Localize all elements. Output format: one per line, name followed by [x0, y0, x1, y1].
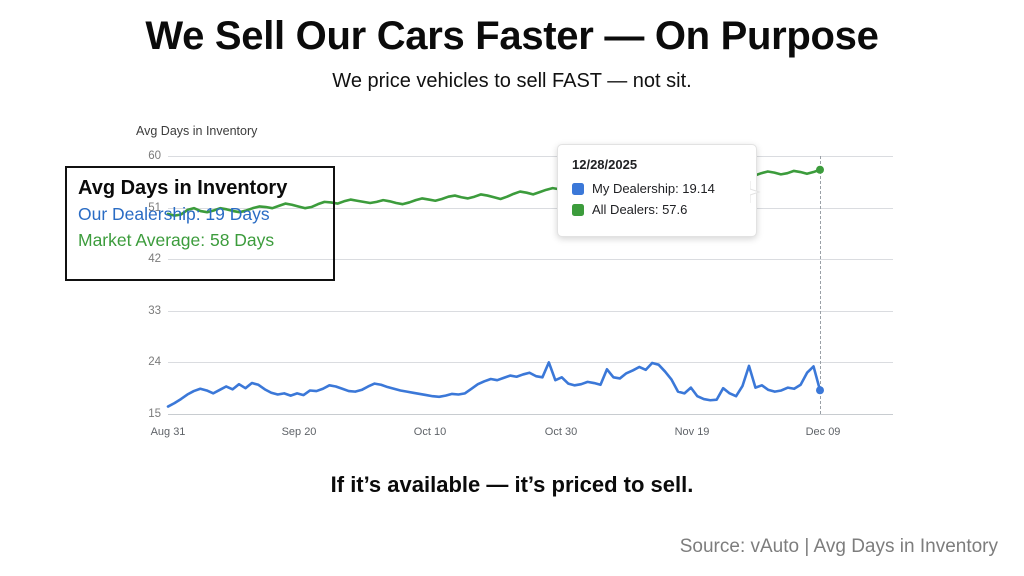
x-axis-tick-label: Oct 10: [414, 426, 446, 438]
tooltip-swatch-icon: [572, 183, 584, 195]
tooltip-swatch-icon: [572, 204, 584, 216]
page-kicker: If it’s available — it’s priced to sell.: [0, 472, 1024, 498]
tooltip-row-my-dealership: My Dealership: 19.14: [572, 181, 742, 196]
y-axis-tick-label: 60: [148, 150, 161, 162]
gridline: [168, 414, 893, 415]
tooltip-value: All Dealers: 57.6: [592, 202, 687, 217]
x-axis-tick-label: Oct 30: [545, 426, 577, 438]
callout-our-dealership: Our Dealership: 19 Days: [78, 201, 333, 227]
x-axis-tick-label: Sep 20: [282, 426, 317, 438]
chart-title: Avg Days in Inventory: [136, 124, 257, 138]
y-axis-tick-label: 15: [148, 408, 161, 420]
chart-tooltip: 12/28/2025 My Dealership: 19.14 All Deal…: [557, 144, 757, 237]
tooltip-pointer-icon: [750, 181, 764, 203]
page-headline: We Sell Our Cars Faster — On Purpose: [0, 14, 1024, 59]
x-axis-tick-label: Dec 09: [806, 426, 841, 438]
source-attribution: Source: vAuto | Avg Days in Inventory: [680, 536, 998, 558]
x-axis-tick-label: Nov 19: [675, 426, 710, 438]
tooltip-date: 12/28/2025: [572, 157, 742, 172]
series-endpoint-marker: [816, 166, 824, 174]
tooltip-value: My Dealership: 19.14: [592, 181, 715, 196]
series-endpoint-marker: [816, 386, 824, 394]
callout-title: Avg Days in Inventory: [78, 176, 333, 201]
x-axis-tick-label: Aug 31: [151, 426, 186, 438]
y-axis-tick-label: 24: [148, 356, 161, 368]
callout-box: Avg Days in Inventory Our Dealership: 19…: [65, 166, 335, 281]
tooltip-row-all-dealers: All Dealers: 57.6: [572, 202, 742, 217]
series-line-my-dealership: [168, 362, 820, 406]
y-axis-tick-label: 33: [148, 305, 161, 317]
page-subheadline: We price vehicles to sell FAST — not sit…: [0, 70, 1024, 93]
callout-market-average: Market Average: 58 Days: [78, 227, 333, 253]
